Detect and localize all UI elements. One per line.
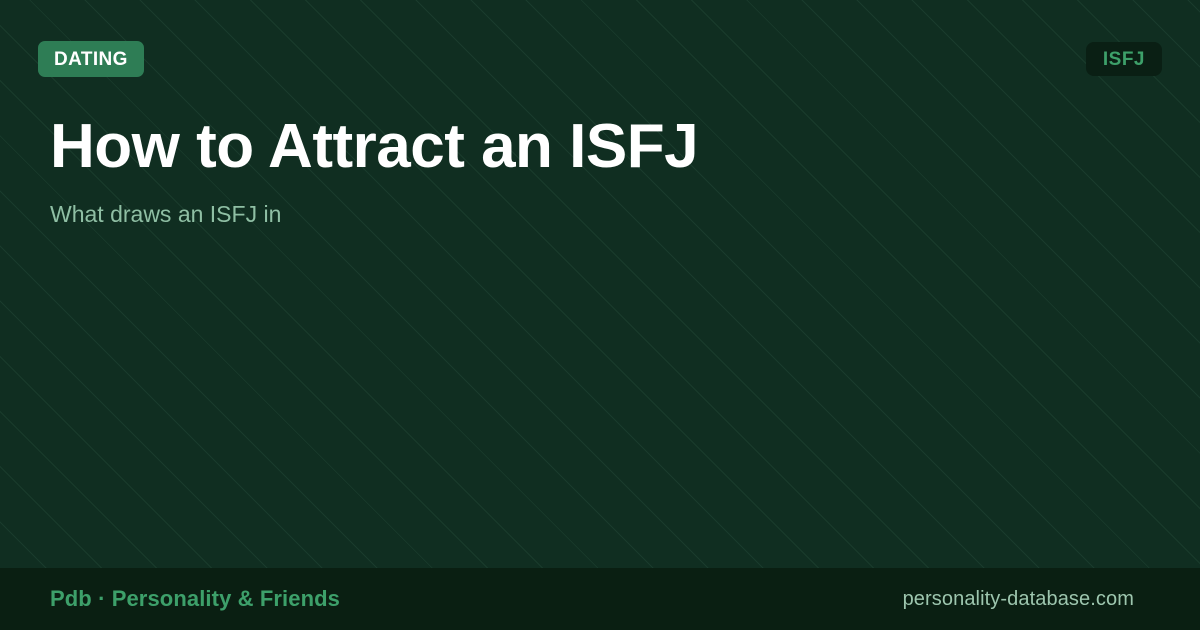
card-footer: Pdb · Personality & Friends personality-… — [0, 568, 1200, 630]
footer-brand-label: Pdb · Personality & Friends — [50, 586, 340, 612]
diagonal-stripe-pattern — [0, 0, 1200, 630]
footer-domain-label: personality-database.com — [903, 588, 1150, 611]
page-title: How to Attract an ISFJ — [50, 114, 1140, 179]
personality-type-badge[interactable]: ISFJ — [1086, 42, 1162, 76]
card-header: DATING ISFJ — [0, 41, 1200, 77]
social-share-card: DATING ISFJ How to Attract an ISFJ What … — [0, 0, 1200, 630]
page-subtitle: What draws an ISFJ in — [50, 179, 1140, 229]
headline-block: How to Attract an ISFJ What draws an ISF… — [50, 114, 1140, 229]
category-badge[interactable]: DATING — [38, 41, 144, 77]
